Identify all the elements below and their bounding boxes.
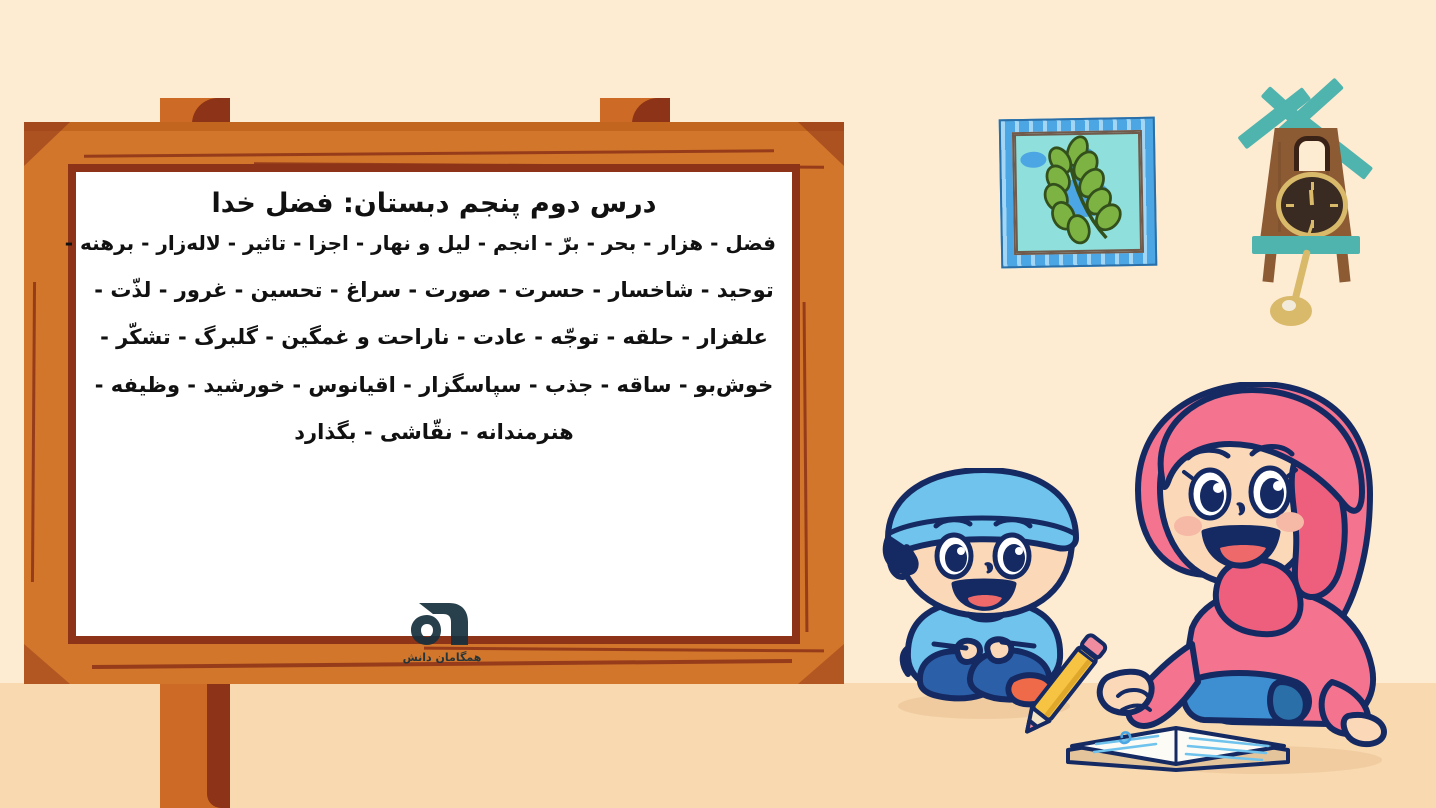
vocab-line-3: علفزار - حلقه - توجّه - عادت - ناراحت و … — [92, 324, 776, 350]
wood-grain-line — [31, 282, 36, 582]
picture-artwork — [1014, 132, 1142, 253]
lesson-title: درس دوم پنجم دبستان: فضل خدا — [92, 186, 776, 221]
wood-grain-line — [92, 659, 792, 669]
clock-tick — [1311, 182, 1314, 190]
vocab-line-2: توحید - شاخسار - حسرت - صورت - سراغ - تح… — [92, 277, 776, 303]
frame-corner-top-left — [24, 122, 70, 166]
vocab-line-4: خوش‌بو - ساقه - جذب - سپاسگزار - اقیانوس… — [92, 372, 776, 398]
wood-grain-line — [84, 149, 774, 157]
whiteboard-frame: درس دوم پنجم دبستان: فضل خدا فضل - هزار … — [24, 122, 844, 684]
vocab-line-1: فضل - هزار - بحر - برّ - انجم - لیل و نه… — [92, 231, 776, 256]
wood-grain-line — [424, 647, 824, 653]
clock-foot — [1336, 252, 1350, 283]
frame-corner-bottom-left — [24, 644, 70, 684]
clock-pendulum-highlight — [1282, 300, 1296, 311]
leaf-branch-icon — [1016, 134, 1140, 251]
clock-tick — [1286, 204, 1294, 207]
wood-grain-line — [803, 302, 809, 632]
vocab-line-5: هنرمندانه - نقّاشی - بگذارد — [92, 419, 776, 445]
frame-corner-top-right — [798, 122, 844, 166]
clock-hour-hand — [1309, 190, 1314, 205]
whiteboard-content: درس دوم پنجم دبستان: فضل خدا فضل - هزار … — [76, 172, 792, 636]
clock-foot — [1262, 252, 1276, 283]
clock-face — [1276, 172, 1348, 238]
open-notebook-icon — [1062, 706, 1294, 774]
clock-tick — [1330, 204, 1338, 207]
frame-top-bevel — [24, 122, 844, 131]
framed-leaf-picture-icon — [999, 117, 1158, 269]
illustration-scene: درس دوم پنجم دبستان: فضل خدا فضل - هزار … — [0, 0, 1436, 808]
cuckoo-door-icon — [1294, 136, 1330, 171]
cuckoo-clock-icon — [1248, 80, 1366, 310]
